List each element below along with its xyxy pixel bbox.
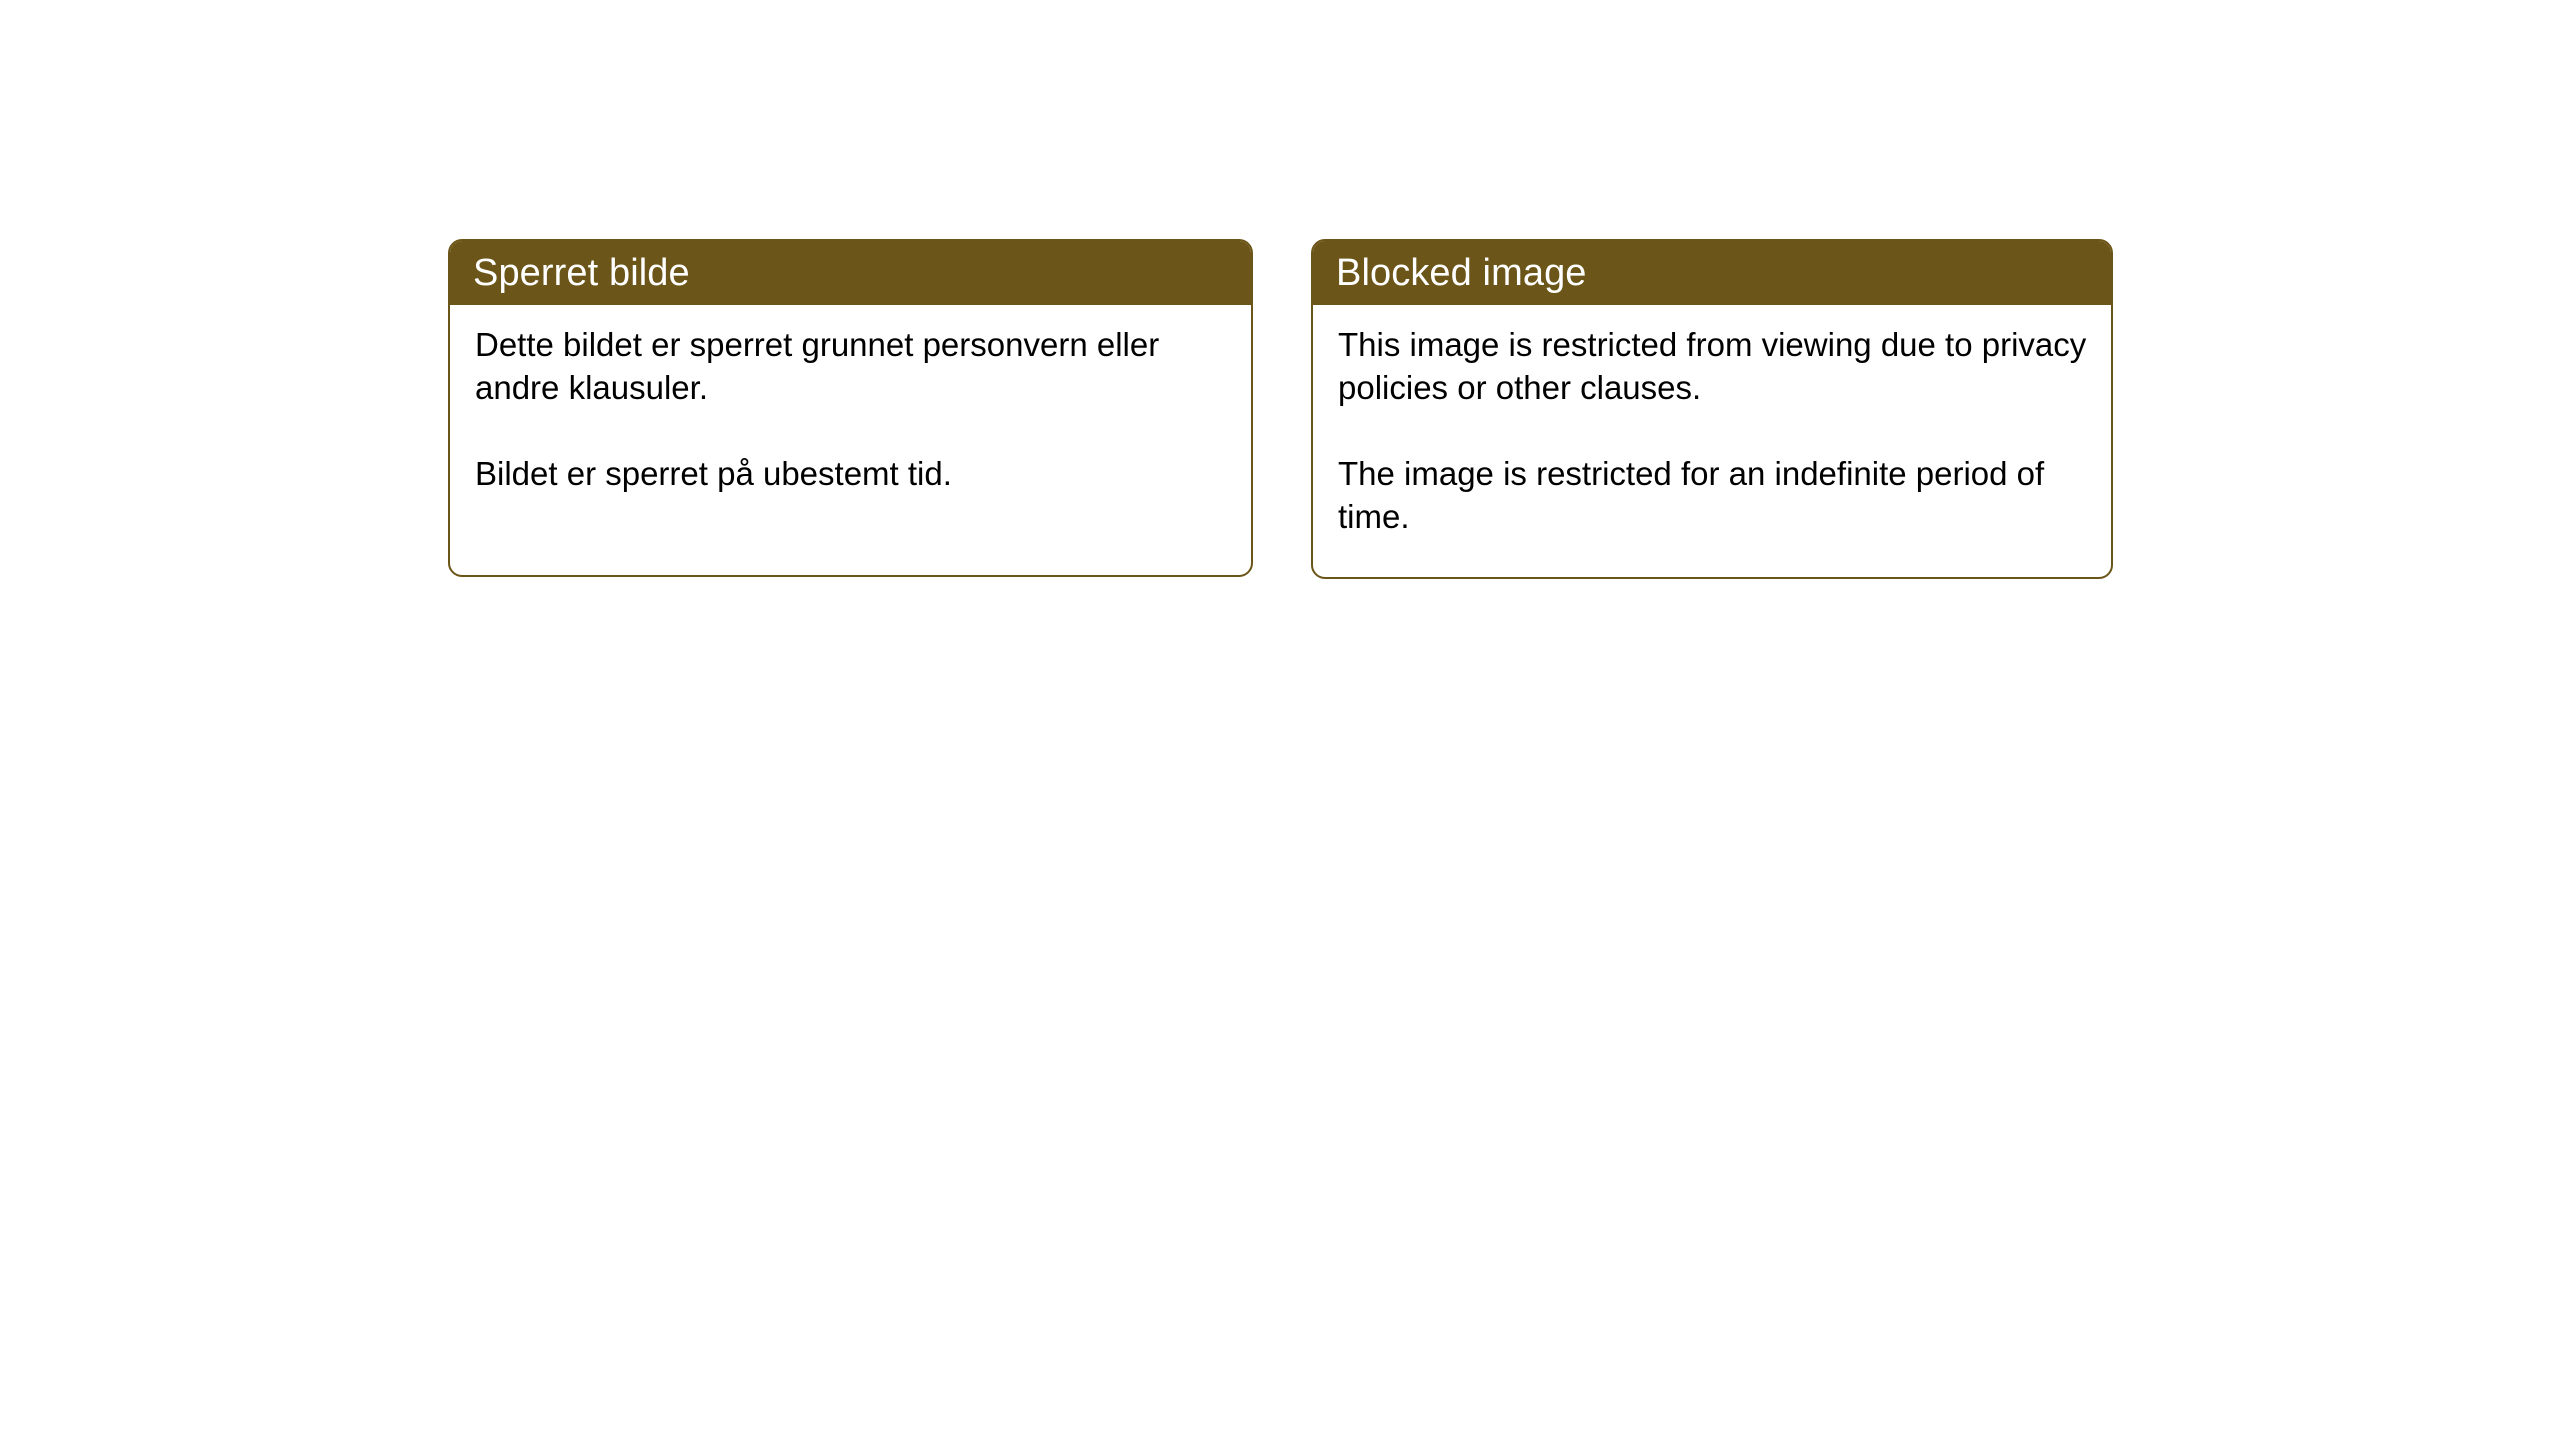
blocked-image-notice-norwegian: Sperret bilde Dette bildet er sperret gr… (448, 239, 1253, 577)
card-header-english: Blocked image (1313, 241, 2111, 305)
page-root: Sperret bilde Dette bildet er sperret gr… (0, 0, 2560, 1440)
card-paragraph: This image is restricted from viewing du… (1338, 323, 2087, 409)
card-paragraph: Dette bildet er sperret grunnet personve… (475, 323, 1227, 409)
card-title-norwegian: Sperret bilde (473, 254, 690, 292)
card-title-english: Blocked image (1336, 254, 1587, 292)
card-paragraph: The image is restricted for an indefinit… (1338, 452, 2087, 538)
card-body-norwegian: Dette bildet er sperret grunnet personve… (450, 305, 1251, 495)
card-paragraph: Bildet er sperret på ubestemt tid. (475, 452, 1227, 495)
card-body-english: This image is restricted from viewing du… (1313, 305, 2111, 538)
blocked-image-notice-english: Blocked image This image is restricted f… (1311, 239, 2113, 579)
card-header-norwegian: Sperret bilde (450, 241, 1251, 305)
